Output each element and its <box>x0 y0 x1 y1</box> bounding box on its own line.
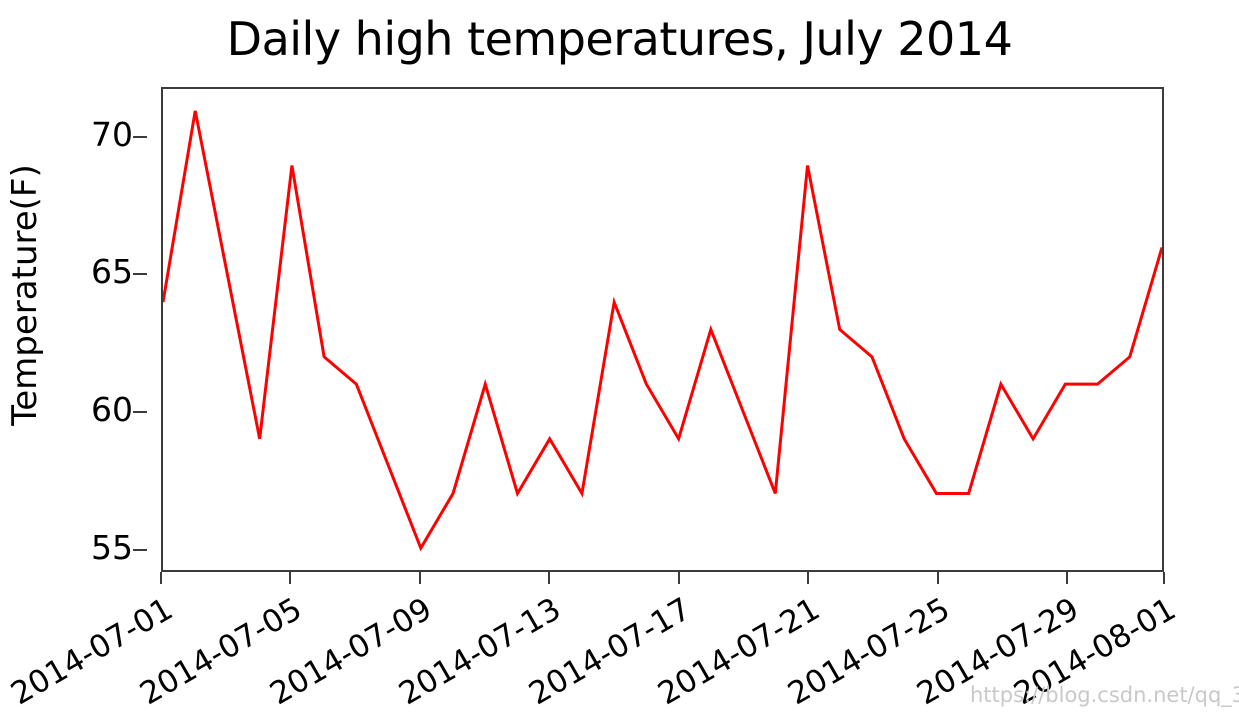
x-tick-mark <box>937 572 939 584</box>
y-tick-mark <box>133 136 147 138</box>
x-tick-mark <box>1163 572 1165 584</box>
y-tick-label: 70 <box>13 115 133 154</box>
y-axis-label: Temperature(F) <box>5 15 45 575</box>
y-tick-label: 65 <box>13 252 133 291</box>
temperature-line-series <box>163 89 1162 570</box>
y-tick-label: 55 <box>13 528 133 567</box>
y-tick-mark <box>133 411 147 413</box>
chart-title: Daily high temperatures, July 2014 <box>0 16 1239 62</box>
x-tick-mark <box>289 572 291 584</box>
x-tick-mark <box>1066 572 1068 584</box>
y-tick-mark <box>133 549 147 551</box>
plot-area <box>161 87 1164 572</box>
x-tick-mark <box>419 572 421 584</box>
y-tick-label: 60 <box>13 390 133 429</box>
x-tick-mark <box>807 572 809 584</box>
x-tick-mark <box>548 572 550 584</box>
y-tick-mark <box>133 273 147 275</box>
watermark-text: https://blog.csdn.net/qq_39236499 <box>970 683 1239 707</box>
temperature-polyline <box>163 111 1162 548</box>
figure-canvas: Daily high temperatures, July 2014 Tempe… <box>0 0 1239 716</box>
x-tick-mark <box>678 572 680 584</box>
x-tick-mark <box>160 572 162 584</box>
